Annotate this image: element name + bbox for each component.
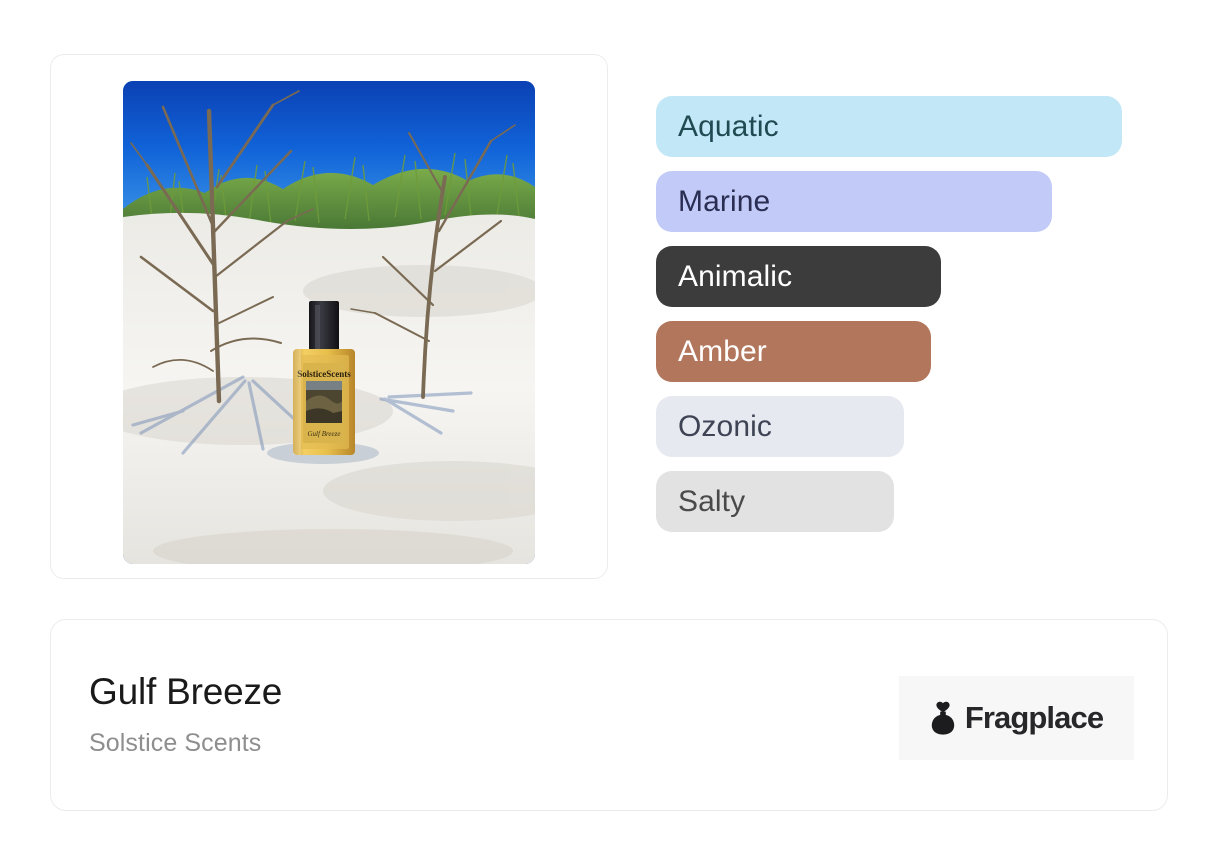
accord-tag-label: Marine bbox=[678, 185, 770, 219]
accord-tag-label: Aquatic bbox=[678, 110, 779, 144]
product-image-card: SolsticeScents Gulf Breeze bbox=[50, 54, 608, 579]
svg-text:SolsticeScents: SolsticeScents bbox=[297, 369, 351, 379]
fragplace-brand-badge[interactable]: Fragplace bbox=[899, 676, 1134, 760]
accord-tag-label: Salty bbox=[678, 485, 745, 519]
accord-tag-animalic[interactable]: Animalic bbox=[656, 246, 941, 307]
product-info-text: Gulf Breeze Solstice Scents bbox=[89, 672, 282, 758]
product-info-card: Gulf Breeze Solstice Scents Fragplace bbox=[50, 619, 1168, 811]
accord-tag-label: Animalic bbox=[678, 260, 792, 294]
accord-tag-label: Amber bbox=[678, 335, 767, 369]
product-brand: Solstice Scents bbox=[89, 729, 282, 758]
accord-tag-aquatic[interactable]: Aquatic bbox=[656, 96, 1122, 157]
product-photo[interactable]: SolsticeScents Gulf Breeze bbox=[123, 81, 535, 564]
accord-tag-salty[interactable]: Salty bbox=[656, 471, 894, 532]
fragplace-wordmark: Fragplace bbox=[965, 700, 1103, 736]
accord-tag-marine[interactable]: Marine bbox=[656, 171, 1052, 232]
beach-dune-photograph: SolsticeScents Gulf Breeze bbox=[123, 81, 535, 564]
accord-tag-list: Aquatic Marine Animalic Amber Ozonic Sal… bbox=[656, 96, 1136, 532]
accord-tag-ozonic[interactable]: Ozonic bbox=[656, 396, 904, 457]
page-title: Gulf Breeze bbox=[89, 672, 282, 713]
perfume-bottle-heart-icon bbox=[930, 701, 956, 735]
svg-text:Gulf Breeze: Gulf Breeze bbox=[308, 430, 341, 438]
accord-tag-amber[interactable]: Amber bbox=[656, 321, 931, 382]
product-page: SolsticeScents Gulf Breeze Aquatic Marin… bbox=[0, 0, 1218, 864]
accord-tag-label: Ozonic bbox=[678, 410, 772, 444]
